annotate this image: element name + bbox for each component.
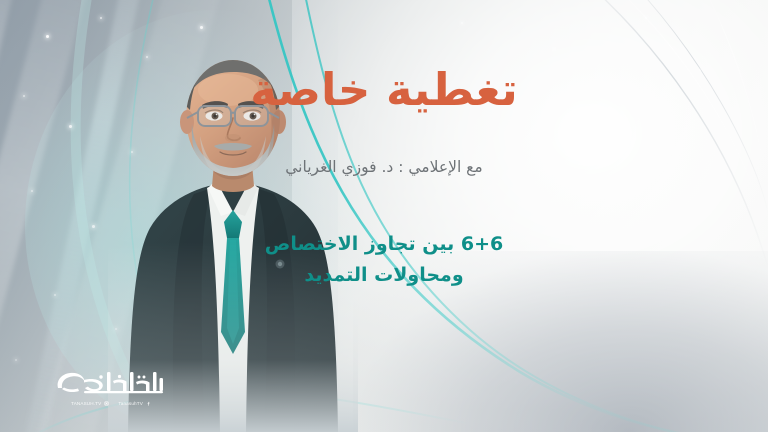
presenter-credit: مع الإعلامي : د. فوزي الغرياني — [96, 113, 672, 177]
facebook-handle-label: TanasuhTV — [118, 401, 143, 406]
instagram-icon — [104, 401, 109, 406]
tanasuh-wordmark-icon — [53, 366, 169, 396]
instagram-handle-label: TANASUH.TV — [71, 401, 101, 406]
broadcast-graphic-canvas: تغطية خاصة مع الإعلامي : د. فوزي الغريان… — [0, 0, 768, 432]
facebook-icon — [146, 401, 151, 406]
title-block: تغطية خاصة مع الإعلامي : د. فوزي الغريان… — [96, 66, 672, 291]
instagram-handle[interactable]: TANASUH.TV — [71, 401, 109, 406]
headline-line-1: 6+6 بين تجاوز الاختصاص — [96, 229, 672, 260]
light-streak — [0, 0, 41, 432]
headline-line-2: ومحاولات التمديد — [96, 260, 672, 291]
channel-logo-lockup: TanasuhTV TANASUH.TV — [46, 366, 176, 406]
story-headline: 6+6 بين تجاوز الاختصاص ومحاولات التمديد — [96, 177, 672, 291]
page-title: تغطية خاصة — [96, 66, 672, 113]
light-streak — [0, 0, 11, 432]
social-handles: TanasuhTV TANASUH.TV — [46, 401, 176, 406]
facebook-handle[interactable]: TanasuhTV — [118, 401, 151, 406]
